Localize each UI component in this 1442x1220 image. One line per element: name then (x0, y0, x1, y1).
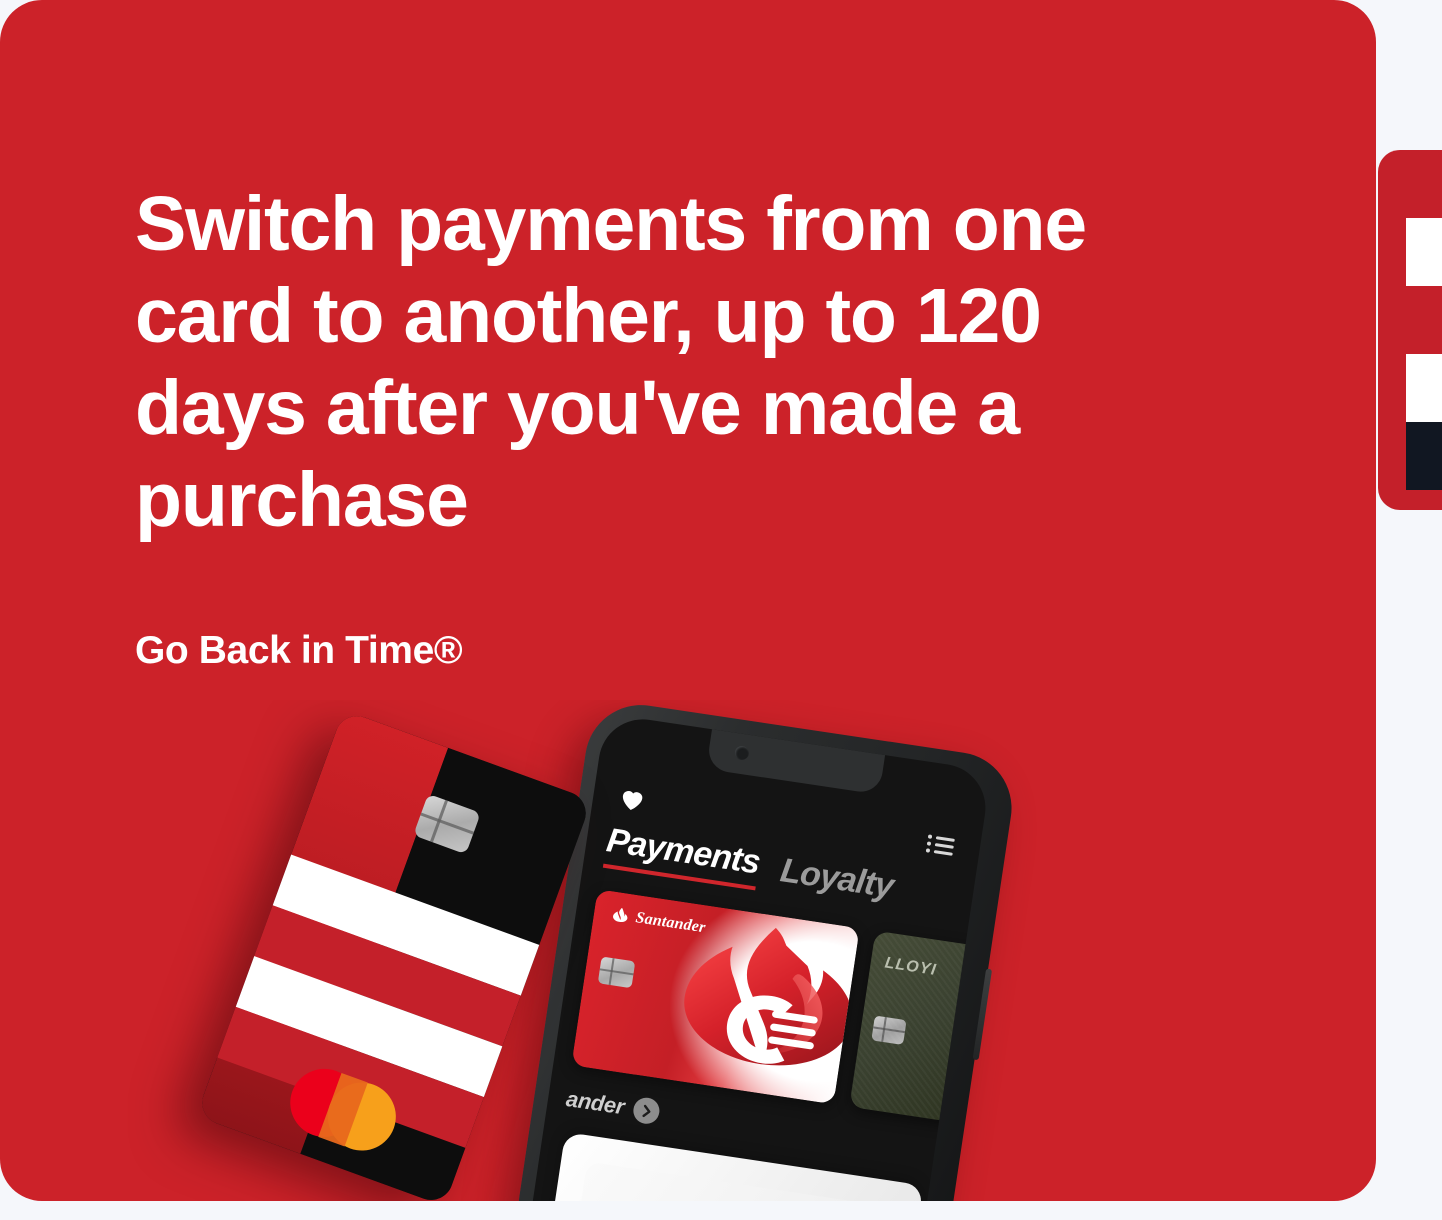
hero-panel: Switch payments from one card to another… (0, 0, 1376, 1201)
phone-screen: Payments Loyalty Santander (525, 713, 991, 1201)
chevron-right-icon[interactable] (632, 1096, 662, 1126)
tab-loyalty[interactable]: Loyalty (777, 853, 895, 910)
phone-mockup: Payments Loyalty Santander (511, 700, 1019, 1201)
santander-card[interactable]: Santander (571, 889, 859, 1104)
wallet-white-card[interactable] (542, 1132, 924, 1201)
heart-icon[interactable] (618, 785, 647, 813)
santander-flame-icon (611, 907, 630, 925)
list-icon[interactable] (925, 833, 956, 857)
card-stripe (1406, 354, 1442, 422)
hero-artwork: Payments Loyalty Santander (0, 700, 1376, 1201)
card-carousel: Santander (571, 889, 966, 1124)
card-stripe (1406, 422, 1442, 490)
edge-payment-card (1378, 150, 1442, 510)
emv-chip-icon (598, 956, 636, 988)
santander-swirl-graphic (657, 910, 860, 1103)
card-stripe (1406, 150, 1442, 218)
card-list-row-label: ander (564, 1086, 626, 1120)
page-title: Switch payments from one card to another… (135, 178, 1210, 546)
emv-chip-icon (871, 1015, 906, 1044)
card-stripe (1406, 286, 1442, 354)
card-list-row[interactable]: ander (564, 1086, 661, 1126)
promo-banner: Switch payments from one card to another… (0, 0, 1442, 1220)
card-stripe (1406, 218, 1442, 286)
hero-copy: Switch payments from one card to another… (135, 178, 1210, 546)
tab-payments[interactable]: Payments (603, 823, 762, 890)
hero-subtitle: Go Back in Time® (135, 629, 462, 673)
lloyds-card-name: LLOYI (883, 954, 937, 980)
phone-camera-icon (734, 745, 750, 761)
